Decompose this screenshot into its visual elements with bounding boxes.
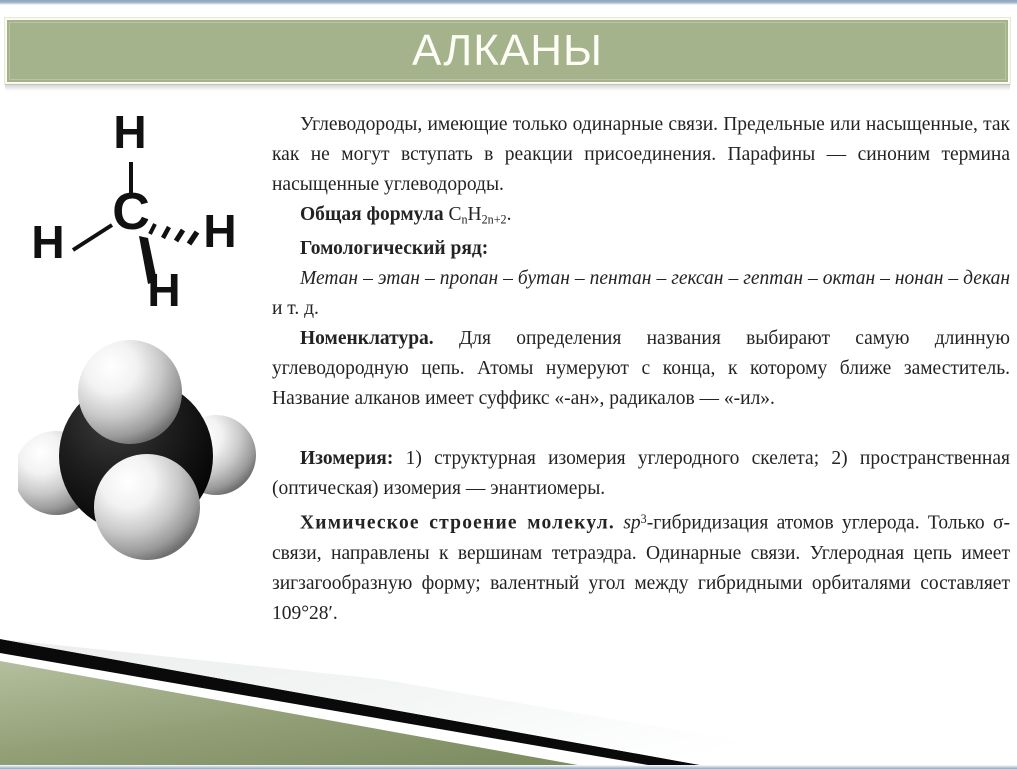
paragraph-nomenclature: Номенклатура. Для определения названия в… [272,324,1010,414]
methane-structural-formula: H H H H C [24,110,264,310]
methane-space-filling-model [18,340,262,566]
body-text-column: Углеводороды, имеющие только одинарные с… [272,110,1010,629]
slide-header-banner: АЛКАНЫ [5,18,1010,84]
paragraph-homologous-members: Метан – этан – пропан – бутан – пентан –… [272,264,1010,324]
paragraph-spacer [272,414,1010,444]
paragraph-isomerism: Изомерия: 1) структурная изомерия углеро… [272,444,1010,504]
homologous-series-colon: : [482,238,489,259]
general-formula-h-subscript: 2n+2 [482,212,507,226]
isomerism-label: Изомерия: [300,448,393,469]
header-drop-shadow [5,84,1010,91]
homologous-series-label: Гомологический ряд [300,238,482,259]
hydrogen-label-top: H [113,110,146,158]
hydrogen-sphere-top [78,340,182,444]
general-formula-label: Общая формула [300,204,444,225]
bottom-decoration [0,639,1017,769]
general-formula-h: H [468,204,482,225]
bottom-divider-rule [0,765,1017,769]
homologous-series-tail: и т. д. [272,298,319,319]
homologous-series-members: Метан – этан – пропан – бутан – пентан –… [300,268,1010,289]
hydrogen-label-right: H [203,205,236,257]
bond-hashed-right [150,224,197,244]
paragraph-homologous-heading: Гомологический ряд: [272,234,1010,264]
paragraph-general-formula: Общая формула CnH2n+2. [272,200,1010,234]
bond-wedge-down [139,236,157,284]
bond-line-left [73,225,112,250]
paragraph-definition: Углеводороды, имеющие только одинарные с… [272,110,1010,200]
page-title: АЛКАНЫ [412,29,603,73]
hybridization-sp: sp [623,513,640,534]
illustration-column: H H H H C [18,108,262,608]
hydrogen-sphere-front [94,454,200,560]
chemical-structure-label: Химическое строение молекул. [300,513,615,534]
hydrogen-label-left: H [31,216,64,268]
nomenclature-label: Номенклатура. [300,328,434,349]
top-divider-rule [0,0,1017,5]
general-formula-period: . [507,204,512,225]
paragraph-chemical-structure: Химическое строение молекул. sp3-гибриди… [272,504,1010,628]
general-formula-c: C [448,204,461,225]
